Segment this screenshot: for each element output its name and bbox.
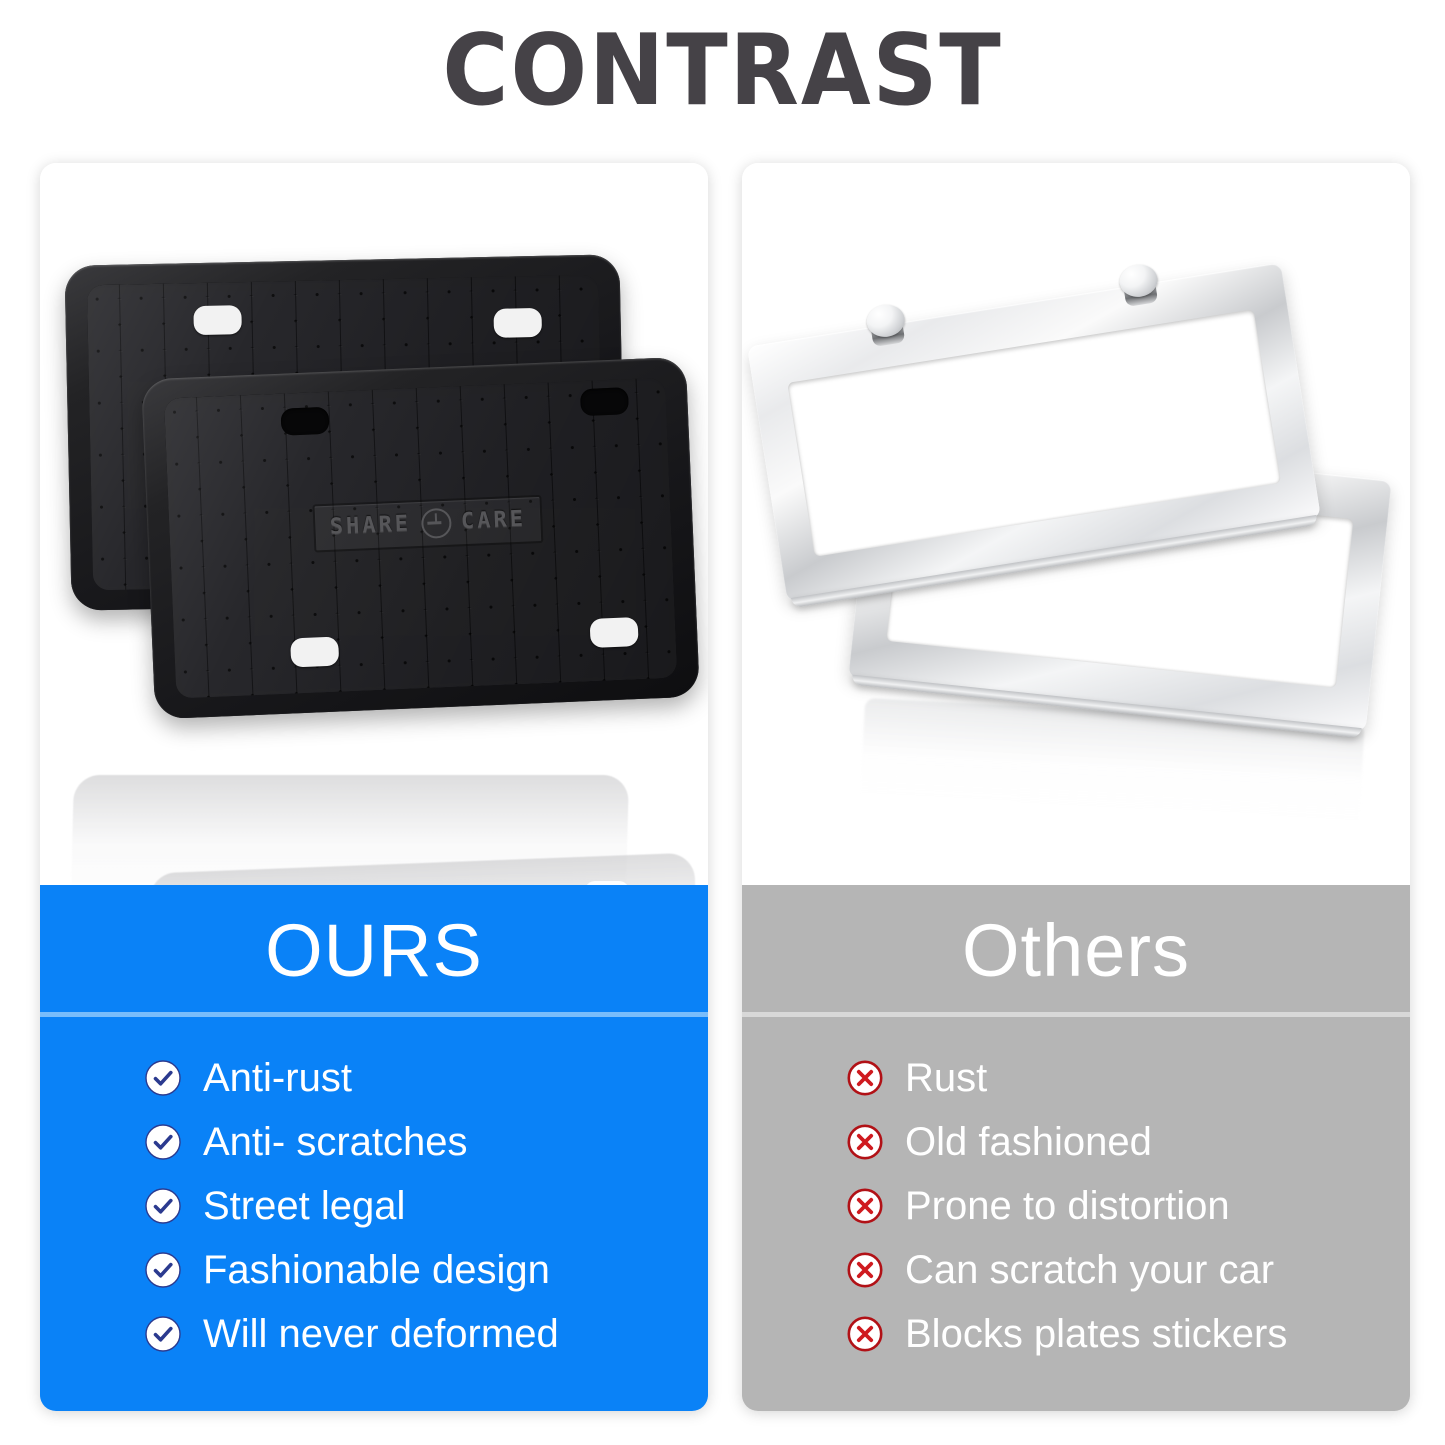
check-circle-icon (145, 1188, 181, 1224)
list-item: Will never deformed (145, 1303, 708, 1365)
ours-heading: OURS (265, 914, 483, 988)
list-item: Anti- scratches (145, 1111, 708, 1173)
feature-label: Street legal (203, 1186, 405, 1226)
others-heading: Others (962, 914, 1190, 988)
logo-text-left: SHARE (329, 513, 411, 538)
cross-circle-icon (847, 1060, 883, 1096)
ours-product-photo: SHARE CARE (40, 163, 708, 885)
list-item: Anti-rust (145, 1047, 708, 1109)
ours-card: SHARE CARE OURS An (40, 163, 708, 1411)
list-item: Prone to distortion (847, 1175, 1410, 1237)
feature-label: Blocks plates stickers (905, 1314, 1287, 1354)
list-item: Blocks plates stickers (847, 1303, 1410, 1365)
mount-slot-bottom-left (290, 637, 339, 668)
mount-slot-bottom-right (590, 617, 639, 648)
feature-label: Old fashioned (905, 1122, 1152, 1162)
cross-circle-icon (847, 1316, 883, 1352)
feature-label: Rust (905, 1058, 987, 1098)
others-product-photo (742, 163, 1410, 885)
feature-label: Anti-rust (203, 1058, 352, 1098)
list-item: Street legal (145, 1175, 708, 1237)
list-item: Rust (847, 1047, 1410, 1109)
feature-label: Fashionable design (203, 1250, 550, 1290)
others-card: Others Rust (742, 163, 1410, 1411)
mount-slot-top-left (193, 305, 242, 335)
ours-panel: OURS Anti-rust (40, 885, 708, 1411)
feature-label: Anti- scratches (203, 1122, 468, 1162)
screw-cap-left-icon (863, 302, 912, 354)
others-panel: Others Rust (742, 885, 1410, 1411)
logo-text-right: CARE (461, 509, 527, 534)
cross-circle-icon (847, 1252, 883, 1288)
comparison-container: SHARE CARE OURS An (40, 163, 1410, 1411)
list-item: Can scratch your car (847, 1239, 1410, 1301)
feature-label: Prone to distortion (905, 1186, 1230, 1226)
silicone-plate-scene: SHARE CARE (40, 163, 708, 885)
mount-slot-top-right (580, 387, 629, 416)
list-item: Old fashioned (847, 1111, 1410, 1173)
others-panel-body: Rust Old fashioned (742, 1017, 1410, 1411)
cross-circle-icon (847, 1124, 883, 1160)
mount-slot-top-left (280, 407, 329, 436)
check-circle-icon (145, 1252, 181, 1288)
logo-emblem-icon (420, 508, 451, 539)
others-panel-header: Others (742, 885, 1410, 1017)
frame-window (787, 309, 1281, 557)
check-circle-icon (145, 1316, 181, 1352)
cross-circle-icon (847, 1188, 883, 1224)
ours-feature-list: Anti-rust Anti- scratches (40, 1047, 708, 1367)
share-care-logo-badge: SHARE CARE (313, 495, 544, 553)
list-item: Fashionable design (145, 1239, 708, 1301)
mount-slot-top-right (493, 308, 542, 338)
check-circle-icon (145, 1060, 181, 1096)
screw-cap-right-icon (1115, 262, 1164, 314)
silicone-plate-front: SHARE CARE (141, 357, 700, 720)
others-feature-list: Rust Old fashioned (742, 1047, 1410, 1367)
ours-panel-body: Anti-rust Anti- scratches (40, 1017, 708, 1411)
page-title: CONTRAST (58, 18, 1387, 126)
chrome-frame-scene (742, 163, 1410, 885)
ours-panel-header: OURS (40, 885, 708, 1017)
feature-label: Can scratch your car (905, 1250, 1274, 1290)
feature-label: Will never deformed (203, 1314, 559, 1354)
check-circle-icon (145, 1124, 181, 1160)
